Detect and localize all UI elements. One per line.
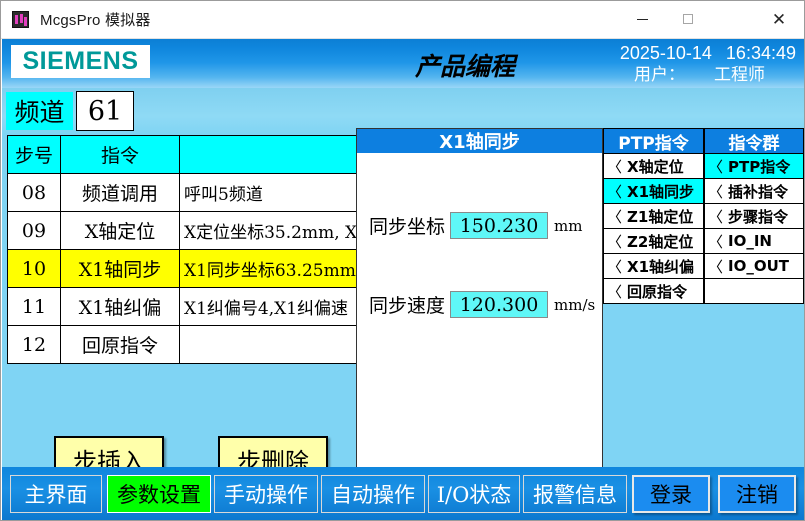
ptp-item-z1-positioning[interactable]: 〈 Z1轴定位 bbox=[604, 204, 703, 229]
group-item-label: IO_OUT bbox=[728, 257, 789, 275]
table-row[interactable]: 08 频道调用 呼叫5频道 bbox=[8, 174, 357, 212]
ptp-item-x1-sync[interactable]: 〈 X1轴同步 bbox=[604, 179, 703, 204]
cell-detail: X1纠偏号4,X1纠偏速 bbox=[180, 288, 357, 326]
table-header-row: 步号 指令 bbox=[8, 136, 357, 174]
ptp-item-x-positioning[interactable]: 〈 X轴定位 bbox=[604, 154, 703, 179]
channel-label: 频道 bbox=[6, 92, 73, 130]
chevron-left-icon: 〈 bbox=[708, 156, 723, 177]
ptp-item-label: Z1轴定位 bbox=[627, 206, 693, 227]
x1-sync-dialog: X1轴同步 同步坐标 150.230 mm 同步速度 120.300 mm/s … bbox=[356, 128, 603, 509]
col-header-detail bbox=[180, 136, 357, 174]
cell-command: 频道调用 bbox=[61, 174, 180, 212]
ptp-item-label: X1轴同步 bbox=[627, 181, 694, 202]
cell-command: X1轴纠偏 bbox=[61, 288, 180, 326]
window-titlebar: McgsPro 模拟器 ✕ bbox=[1, 1, 804, 39]
datetime-block: 2025-10-14 16:34:49 用户： 工程师 bbox=[576, 42, 796, 86]
group-item-label: 插补指令 bbox=[728, 181, 788, 202]
cell-command: X1轴同步 bbox=[61, 250, 180, 288]
maximize-button[interactable] bbox=[665, 1, 711, 37]
date-text: 2025-10-14 bbox=[620, 42, 712, 64]
command-group-list: 指令群 〈 PTP指令 〈 插补指令 〈 步骤指令 〈 IO_IN 〈 IO_O… bbox=[704, 128, 804, 304]
minimize-button[interactable] bbox=[619, 1, 665, 37]
cell-step-no: 09 bbox=[8, 212, 61, 250]
chevron-left-icon: 〈 bbox=[607, 156, 622, 177]
dialog-title: X1轴同步 bbox=[357, 129, 602, 153]
col-header-step-no: 步号 bbox=[8, 136, 61, 174]
table-row[interactable]: 09 X轴定位 X定位坐标35.2mm, X bbox=[8, 212, 357, 250]
cell-command: X轴定位 bbox=[61, 212, 180, 250]
group-item-io-in[interactable]: 〈 IO_IN bbox=[705, 229, 803, 254]
table-row[interactable]: 12 回原指令 bbox=[8, 326, 357, 364]
siemens-logo: SIEMENS bbox=[11, 45, 150, 78]
group-item-io-out[interactable]: 〈 IO_OUT bbox=[705, 254, 803, 279]
user-row: 用户： 工程师 bbox=[576, 64, 796, 86]
ptp-item-label: X轴定位 bbox=[627, 156, 684, 177]
group-list-header: 指令群 bbox=[705, 129, 803, 154]
ptp-item-label: Z2轴定位 bbox=[627, 231, 693, 252]
cell-step-no: 10 bbox=[8, 250, 61, 288]
mcgs-app-icon bbox=[12, 11, 29, 28]
sync-coordinate-input[interactable]: 150.230 bbox=[450, 212, 548, 239]
group-item-empty bbox=[705, 279, 803, 304]
nav-io-status[interactable]: I/O状态 bbox=[428, 475, 520, 513]
nav-parameter-settings[interactable]: 参数设置 bbox=[107, 475, 211, 513]
nav-manual-operation[interactable]: 手动操作 bbox=[214, 475, 318, 513]
maximize-icon bbox=[683, 14, 693, 24]
ptp-item-z2-positioning[interactable]: 〈 Z2轴定位 bbox=[604, 229, 703, 254]
chevron-left-icon: 〈 bbox=[607, 206, 622, 227]
chevron-left-icon: 〈 bbox=[607, 281, 622, 302]
page-title: 产品编程 bbox=[360, 47, 570, 83]
close-icon: ✕ bbox=[772, 11, 786, 28]
group-item-step[interactable]: 〈 步骤指令 bbox=[705, 204, 803, 229]
cell-detail bbox=[180, 326, 357, 364]
chevron-left-icon: 〈 bbox=[708, 181, 723, 202]
ptp-item-label: X1轴纠偏 bbox=[627, 256, 694, 277]
cell-step-no: 11 bbox=[8, 288, 61, 326]
group-item-label: 步骤指令 bbox=[728, 206, 788, 227]
window-title: McgsPro 模拟器 bbox=[40, 9, 151, 30]
user-value: 工程师 bbox=[714, 64, 796, 86]
ptp-item-home-return[interactable]: 〈 回原指令 bbox=[604, 279, 703, 304]
table-row[interactable]: 11 X1轴纠偏 X1纠偏号4,X1纠偏速 bbox=[8, 288, 357, 326]
user-label: 用户： bbox=[634, 64, 692, 86]
ptp-command-list: PTP指令 〈 X轴定位 〈 X1轴同步 〈 Z1轴定位 〈 Z2轴定位 〈 X… bbox=[603, 128, 704, 304]
date-time-row: 2025-10-14 16:34:49 bbox=[576, 42, 796, 64]
cell-step-no: 08 bbox=[8, 174, 61, 212]
nav-logout[interactable]: 注销 bbox=[718, 475, 796, 513]
cell-command: 回原指令 bbox=[61, 326, 180, 364]
chevron-left-icon: 〈 bbox=[708, 206, 723, 227]
screen-header: SIEMENS 产品编程 2025-10-14 16:34:49 用户： 工程师 bbox=[2, 39, 804, 88]
nav-alarm-info[interactable]: 报警信息 bbox=[523, 475, 627, 513]
cell-detail: X1同步坐标63.25mm bbox=[180, 250, 357, 288]
close-button[interactable]: ✕ bbox=[756, 1, 802, 37]
cell-step-no: 12 bbox=[8, 326, 61, 364]
hmi-screen: SIEMENS 产品编程 2025-10-14 16:34:49 用户： 工程师… bbox=[2, 39, 804, 520]
sync-speed-label: 同步速度 bbox=[369, 291, 445, 318]
nav-login[interactable]: 登录 bbox=[632, 475, 710, 513]
ptp-item-label: 回原指令 bbox=[627, 281, 687, 302]
sync-speed-unit: mm/s bbox=[554, 296, 595, 314]
group-item-interpolation[interactable]: 〈 插补指令 bbox=[705, 179, 803, 204]
channel-value-input[interactable]: 61 bbox=[76, 91, 134, 131]
cell-detail: X定位坐标35.2mm, X bbox=[180, 212, 357, 250]
chevron-left-icon: 〈 bbox=[708, 231, 723, 252]
group-item-label: IO_IN bbox=[728, 232, 772, 250]
sync-coordinate-unit: mm bbox=[554, 217, 582, 235]
sync-speed-field: 同步速度 120.300 mm/s bbox=[369, 291, 595, 318]
nav-main-screen[interactable]: 主界面 bbox=[10, 475, 102, 513]
sync-speed-input[interactable]: 120.300 bbox=[450, 291, 548, 318]
sync-coordinate-field: 同步坐标 150.230 mm bbox=[369, 212, 582, 239]
bottom-navigation-bar: 主界面 参数设置 手动操作 自动操作 I/O状态 报警信息 登录 注销 bbox=[2, 467, 804, 520]
ptp-list-header: PTP指令 bbox=[604, 129, 703, 154]
time-text: 16:34:49 bbox=[726, 42, 796, 64]
application-window: McgsPro 模拟器 ✕ SIEMENS 产品编程 2025-10-14 16… bbox=[0, 0, 805, 521]
col-header-command: 指令 bbox=[61, 136, 180, 174]
step-table: 步号 指令 08 频道调用 呼叫5频道 09 X轴定位 X定位坐标35.2mm,… bbox=[7, 135, 357, 364]
sync-coordinate-label: 同步坐标 bbox=[369, 212, 445, 239]
group-item-ptp[interactable]: 〈 PTP指令 bbox=[705, 154, 803, 179]
minimize-icon bbox=[637, 19, 648, 20]
chevron-left-icon: 〈 bbox=[708, 256, 723, 277]
chevron-left-icon: 〈 bbox=[607, 181, 622, 202]
chevron-left-icon: 〈 bbox=[607, 256, 622, 277]
cell-detail: 呼叫5频道 bbox=[180, 174, 357, 212]
ptp-item-x1-correction[interactable]: 〈 X1轴纠偏 bbox=[604, 254, 703, 279]
table-row-selected[interactable]: 10 X1轴同步 X1同步坐标63.25mm bbox=[8, 250, 357, 288]
group-item-label: PTP指令 bbox=[728, 156, 790, 177]
chevron-left-icon: 〈 bbox=[607, 231, 622, 252]
nav-auto-operation[interactable]: 自动操作 bbox=[321, 475, 425, 513]
